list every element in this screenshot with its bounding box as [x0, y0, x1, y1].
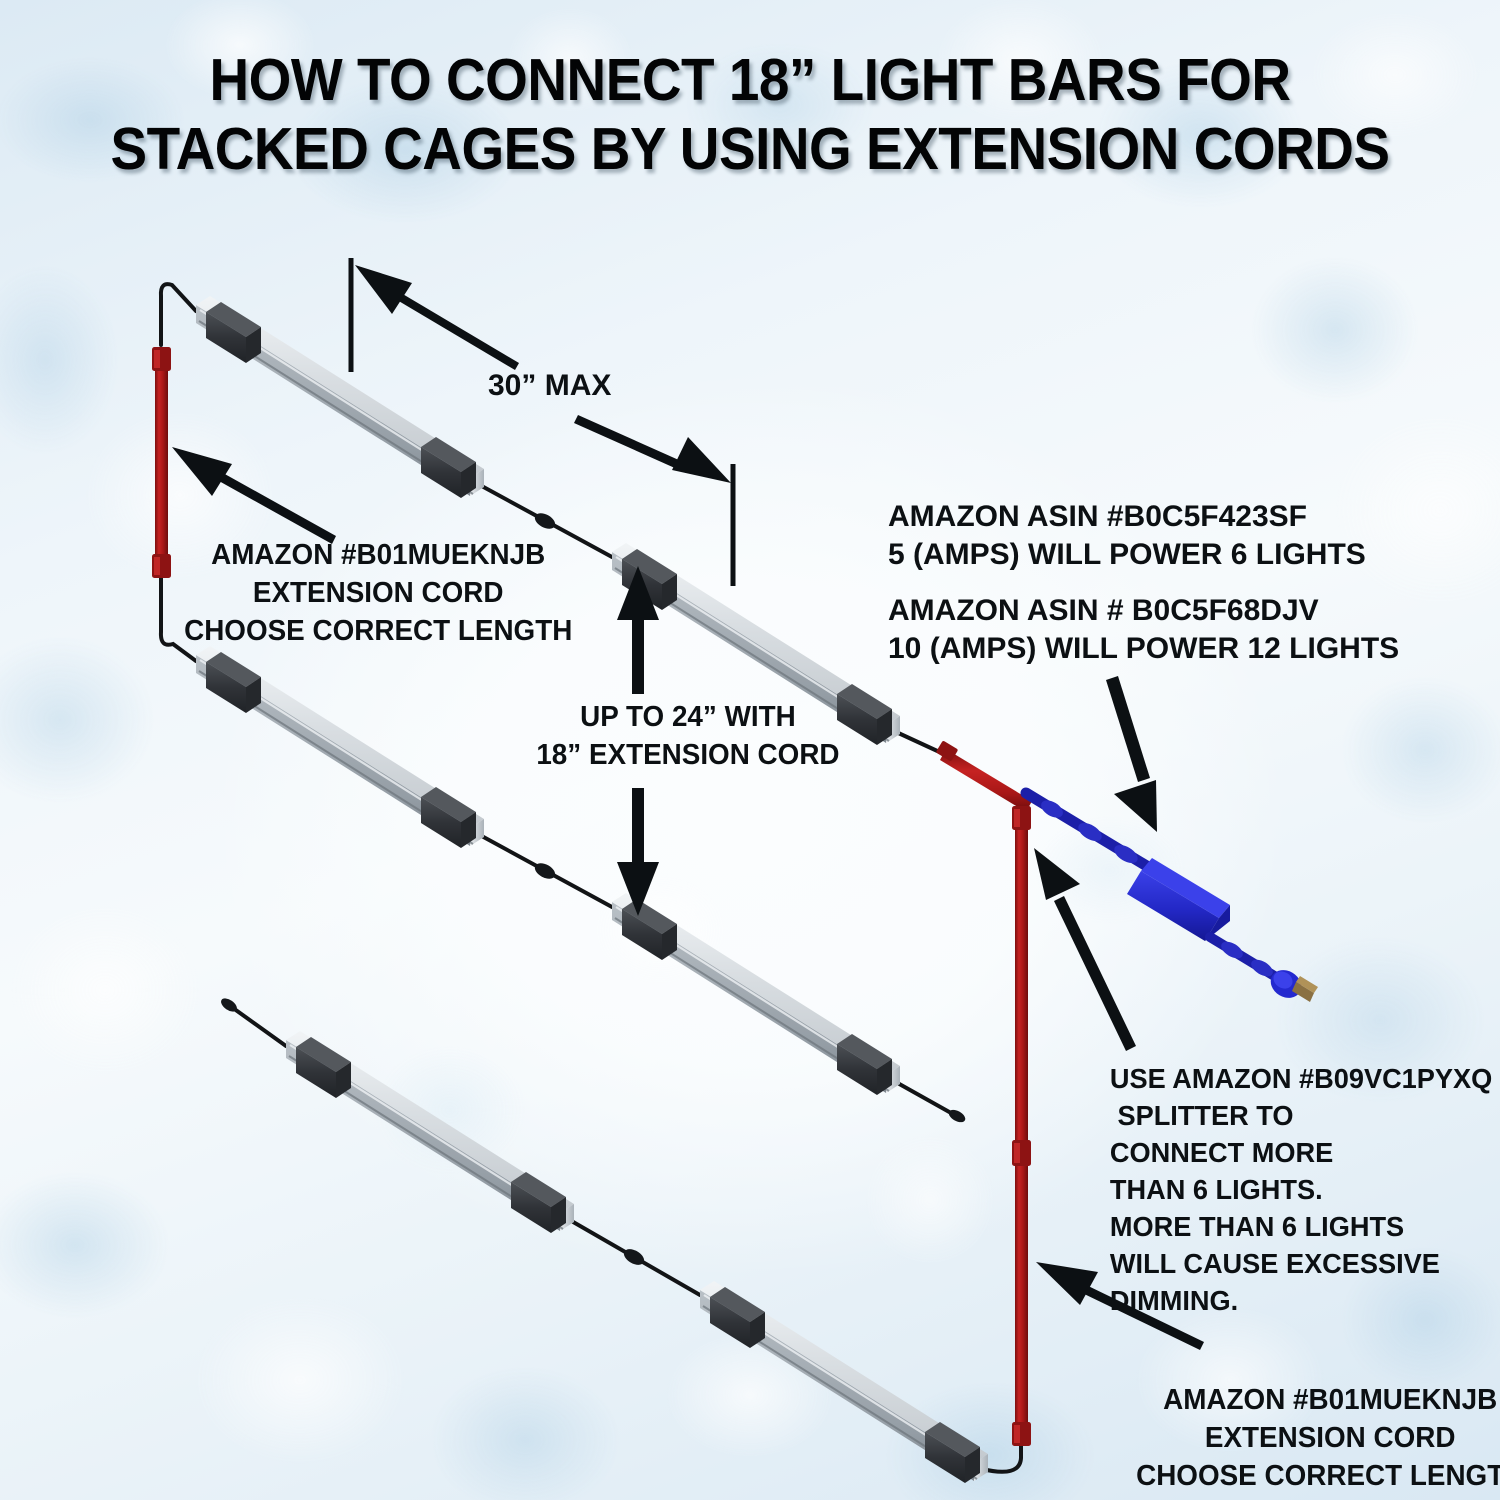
power-supply-line-4: 10 (AMPS) WILL POWER 12 LIGHTS — [888, 630, 1399, 668]
end-cap — [710, 1287, 765, 1348]
annotation-spacer — [888, 574, 1399, 592]
power-supply-line-3: AMAZON ASIN # B0C5F68DJV — [888, 592, 1399, 630]
right-cord-line-3: CHOOSE CORRECT LENGTH — [1136, 1457, 1500, 1495]
splitter-line-7: DIMMING. — [1110, 1282, 1492, 1319]
splitter-line-6: WILL CAUSE EXCESSIVE — [1110, 1245, 1492, 1282]
cable-ferrule-3 — [621, 1246, 647, 1268]
annotation-dimension-30-max: 30” MAX — [488, 367, 611, 405]
end-cap — [421, 787, 476, 848]
infographic-page: HOW TO CONNECT 18” LIGHT BARS FOR STACKE… — [0, 0, 1500, 1500]
annotation-dimension-24-extension: UP TO 24” WITH 18” EXTENSION CORD — [536, 698, 839, 774]
extension-cord-left[interactable] — [152, 347, 171, 578]
arrow-to-power-supply — [1106, 676, 1157, 832]
annotation-right-extension-cord: AMAZON #B01MUEKNJB EXTENSION CORD CHOOSE… — [1136, 1381, 1500, 1495]
light-bar-4[interactable] — [612, 893, 900, 1095]
light-bar-5[interactable] — [286, 1031, 574, 1233]
splitter-line-4: THAN 6 LIGHTS. — [1110, 1171, 1492, 1208]
power-supply-line-1: AMAZON ASIN #B0C5F423SF — [888, 498, 1399, 536]
annotation-power-supply-asins: AMAZON ASIN #B0C5F423SF 5 (AMPS) WILL PO… — [888, 498, 1399, 668]
dim-24-line-1: UP TO 24” WITH — [536, 698, 839, 736]
arrow-dim-30-left — [355, 265, 519, 370]
cable-bar1-to-left-cord — [161, 284, 196, 345]
cable-ferrule-1 — [532, 510, 558, 532]
end-cap — [837, 684, 892, 745]
arrow-to-splitter — [1034, 848, 1136, 1051]
left-cord-line-1: AMAZON #B01MUEKNJB — [184, 536, 572, 574]
splitter-line-3: CONNECT MORE — [1110, 1134, 1492, 1171]
end-cap — [296, 1037, 351, 1098]
end-cap — [925, 1422, 980, 1483]
end-cap — [421, 437, 476, 498]
arrow-dim-30-right — [574, 415, 731, 483]
title-line-2: STACKED CAGES BY USING EXTENSION CORDS — [53, 115, 1448, 184]
annotation-splitter-warning: USE AMAZON #B09VC1PYXQ SPLITTER TO CONNE… — [1110, 1060, 1492, 1319]
left-cord-line-2: EXTENSION CORD — [184, 574, 572, 612]
light-bar-6[interactable] — [700, 1281, 988, 1483]
title-line-1: HOW TO CONNECT 18” LIGHT BARS FOR — [53, 46, 1448, 115]
cable-tail-end-1 — [947, 1107, 968, 1124]
right-cord-line-2: EXTENSION CORD — [1136, 1419, 1500, 1457]
splitter-line-1: USE AMAZON #B09VC1PYXQ — [1110, 1060, 1492, 1097]
power-supply-adapter[interactable] — [1026, 793, 1318, 1003]
end-cap — [206, 652, 261, 713]
splitter-line-2: SPLITTER TO — [1110, 1097, 1492, 1134]
end-cap — [511, 1172, 566, 1233]
light-bar-3[interactable] — [196, 646, 484, 848]
right-cord-line-1: AMAZON #B01MUEKNJB — [1136, 1381, 1500, 1419]
light-bar-1[interactable] — [196, 296, 484, 498]
connector-cables — [161, 284, 1021, 1472]
dim-24-line-2: 18” EXTENSION CORD — [536, 736, 839, 774]
power-supply-line-2: 5 (AMPS) WILL POWER 6 LIGHTS — [888, 536, 1399, 574]
end-cap — [837, 1034, 892, 1095]
end-cap — [206, 302, 261, 363]
arrow-to-left-extension-cord — [172, 447, 336, 544]
power-brick — [1127, 858, 1230, 941]
left-cord-line-3: CHOOSE CORRECT LENGTH — [184, 612, 572, 650]
page-title: HOW TO CONNECT 18” LIGHT BARS FOR STACKE… — [0, 46, 1500, 184]
dim-30-label: 30” MAX — [488, 367, 611, 405]
end-cap — [622, 899, 677, 960]
splitter-line-5: MORE THAN 6 LIGHTS — [1110, 1208, 1492, 1245]
extension-cord-right[interactable] — [936, 740, 1032, 1446]
cable-ferrule-2 — [532, 860, 558, 882]
annotation-left-extension-cord: AMAZON #B01MUEKNJB EXTENSION CORD CHOOSE… — [184, 536, 572, 650]
